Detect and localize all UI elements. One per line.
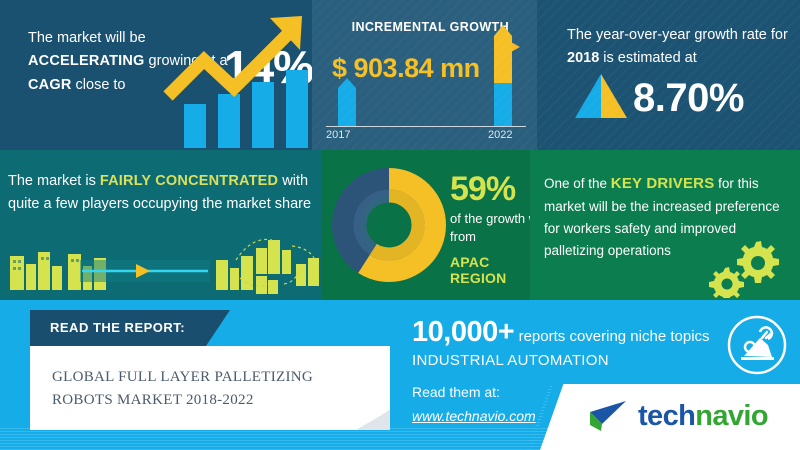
robot-arm-icon: [726, 314, 788, 376]
panel-concentration: The market is FAIRLY CONCENTRATED with q…: [0, 150, 322, 300]
infographic-canvas: The market will be ACCELERATING growing …: [0, 0, 800, 450]
apac-donut-chart: [332, 168, 446, 282]
drv-text-bold: KEY DRIVERS: [611, 175, 715, 192]
top-row: The market will be ACCELERATING growing …: [0, 0, 800, 150]
report-title-card[interactable]: GLOBAL FULL LAYER PALLETIZING ROBOTS MAR…: [30, 346, 390, 430]
reports-count-line: 10,000+ reports covering niche topics: [412, 316, 710, 349]
reports-tagline: reports covering niche topics: [519, 328, 710, 345]
conc-text-bold: FAIRLY CONCENTRATED: [100, 173, 278, 189]
middle-row: The market is FAIRLY CONCENTRATED with q…: [0, 150, 800, 300]
footer-row: READ THE REPORT: GLOBAL FULL LAYER PALLE…: [0, 300, 800, 450]
sector-label: INDUSTRIAL AUTOMATION: [412, 352, 609, 369]
cagr-text-post: close to: [72, 77, 126, 93]
yoy-text-post: is estimated at: [599, 50, 697, 66]
concentration-statement: The market is FAIRLY CONCENTRATED with q…: [8, 170, 320, 216]
incremental-growth-title: INCREMENTAL GROWTH: [334, 18, 509, 37]
cagr-text-bold-cagr: CAGR: [28, 77, 72, 93]
gears-icon: [698, 238, 788, 298]
panel-apac-region: 59% of the growth will come from APAC RE…: [322, 150, 530, 300]
conc-text-pre: The market is: [8, 173, 100, 189]
cagr-text-pre: The market will be: [28, 30, 146, 46]
read-them-at-label: Read them at:: [412, 384, 500, 400]
yoy-statement: The year-over-year growth rate for 2018 …: [567, 24, 789, 71]
city-cluster-right: [216, 240, 319, 294]
year-label-end: 2022: [488, 129, 512, 141]
read-the-report-label: READ THE REPORT:: [50, 320, 185, 335]
yoy-value: 8.70%: [633, 76, 744, 121]
panel-incremental-growth: INCREMENTAL GROWTH $ 903.84 mn 2017 2022: [312, 0, 537, 150]
growth-triangle-icon: [571, 72, 633, 120]
panel-cagr: The market will be ACCELERATING growing …: [0, 0, 312, 150]
panel-key-drivers: One of the KEY DRIVERS for this market w…: [530, 150, 800, 300]
apac-percent: 59%: [450, 170, 515, 209]
cagr-text-bold-accelerating: ACCELERATING: [28, 53, 145, 69]
website-url-link[interactable]: www.technavio.com: [412, 408, 536, 424]
logo-text-tech: tech: [638, 400, 695, 432]
technavio-logo: technavio: [586, 398, 632, 434]
bar-2022-increment: [494, 36, 512, 83]
logo-text-navio: navio: [695, 400, 768, 432]
report-title: GLOBAL FULL LAYER PALLETIZING ROBOTS MAR…: [52, 366, 372, 412]
apac-region-label: APAC REGION: [450, 254, 530, 286]
technavio-arrow-icon: [586, 398, 632, 434]
chart-axis-line: [326, 126, 526, 127]
technavio-wordmark: technavio: [638, 400, 768, 433]
reports-count: 10,000+: [412, 316, 514, 348]
play-triangle-icon: [511, 42, 520, 52]
yoy-text-pre: The year-over-year growth rate for: [567, 27, 788, 43]
year-label-start: 2017: [326, 129, 350, 141]
read-the-report-tab: READ THE REPORT:: [30, 310, 230, 346]
panel-yoy-growth: The year-over-year growth rate for 2018 …: [537, 0, 800, 150]
bar-2022: [494, 36, 512, 126]
drv-text-pre: One of the: [544, 176, 611, 191]
bar-2017: [338, 88, 356, 126]
yoy-text-bold-year: 2018: [567, 50, 599, 66]
market-players-diagram: [0, 234, 322, 296]
